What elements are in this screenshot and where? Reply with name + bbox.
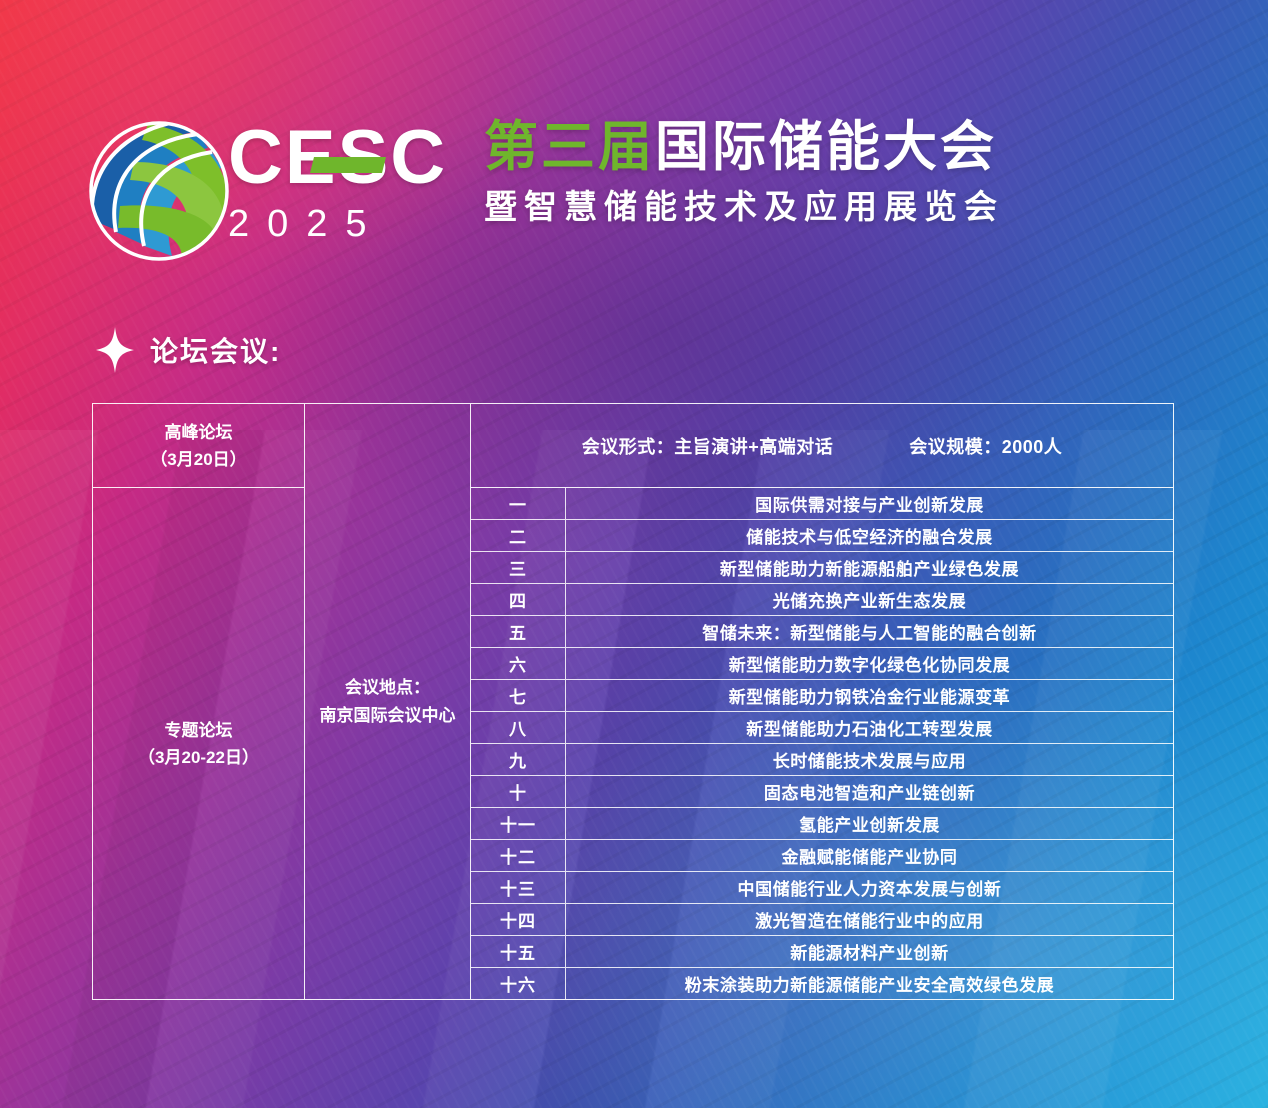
topic-title: 新能源材料产业创新 [566,936,1173,967]
meeting-meta-row: 会议形式：主旨演讲+高端对话 会议规模：2000人 [471,404,1173,488]
topic-forum-date: （3月20-22日） [138,744,259,771]
topic-number: 十六 [471,968,566,999]
table-row: 六新型储能助力数字化绿色化协同发展 [471,648,1173,680]
topic-title: 粉末涂装助力新能源储能产业安全高效绿色发展 [566,968,1173,999]
topic-number: 九 [471,744,566,775]
globe-logo-icon [86,118,232,264]
four-point-star-icon [96,327,134,373]
summit-forum-name: 高峰论坛 [165,419,233,446]
topic-number: 五 [471,616,566,647]
topic-number: 三 [471,552,566,583]
table-row: 十一氢能产业创新发展 [471,808,1173,840]
topic-title: 固态电池智造和产业链创新 [566,776,1173,807]
venue-label: 会议地点： [320,674,456,702]
table-row: 二储能技术与低空经济的融合发展 [471,520,1173,552]
topic-number: 十五 [471,936,566,967]
topic-number: 六 [471,648,566,679]
topic-title: 氢能产业创新发展 [566,808,1173,839]
topic-number: 十 [471,776,566,807]
event-subtitle: 暨智慧储能技术及应用展览会 [484,186,1204,228]
section-title: 论坛会议: [150,330,281,370]
poster-header: CESC 2025 第三届国际储能大会 暨智慧储能技术及应用展览会 [0,0,1268,300]
topic-number: 一 [471,488,566,519]
topic-title: 新型储能助力钢铁冶金行业能源变革 [566,680,1173,711]
brand-acronym: CESC [228,120,447,196]
topic-title: 金融赋能储能产业协同 [566,840,1173,871]
topic-number: 二 [471,520,566,551]
topic-title: 智储未来：新型储能与人工智能的融合创新 [566,616,1173,647]
e-crossbar-accent [310,157,386,173]
table-row: 四光储充换产业新生态发展 [471,584,1173,616]
topic-number: 八 [471,712,566,743]
table-row: 九长时储能技术发展与应用 [471,744,1173,776]
topic-title: 长时储能技术发展与应用 [566,744,1173,775]
event-titles: 第三届国际储能大会 暨智慧储能技术及应用展览会 [484,116,1204,228]
topic-number: 十四 [471,904,566,935]
topic-title: 储能技术与低空经济的融合发展 [566,520,1173,551]
table-row: 十六粉末涂装助力新能源储能产业安全高效绿色发展 [471,968,1173,999]
summit-forum-cell: 高峰论坛 （3月20日） [93,404,304,488]
table-row: 十五新能源材料产业创新 [471,936,1173,968]
topic-number: 十一 [471,808,566,839]
table-row: 五智储未来：新型储能与人工智能的融合创新 [471,616,1173,648]
table-row: 七新型储能助力钢铁冶金行业能源变革 [471,680,1173,712]
schedule-main-column: 会议形式：主旨演讲+高端对话 会议规模：2000人 一国际供需对接与产业创新发展… [471,404,1173,999]
topic-title: 激光智造在储能行业中的应用 [566,904,1173,935]
topic-title: 中国储能行业人力资本发展与创新 [566,872,1173,903]
topic-forum-cell: 专题论坛 （3月20-22日） [93,488,304,999]
topic-number: 十三 [471,872,566,903]
table-row: 八新型储能助力石油化工转型发展 [471,712,1173,744]
venue-column: 会议地点： 南京国际会议中心 [305,404,471,999]
table-row: 十固态电池智造和产业链创新 [471,776,1173,808]
table-row: 十二金融赋能储能产业协同 [471,840,1173,872]
forum-schedule-table: 高峰论坛 （3月20日） 专题论坛 （3月20-22日） 会议地点： 南京国际会… [92,403,1174,1000]
event-title-edition: 第三届 [484,117,655,177]
event-title-main: 国际储能大会 [655,117,997,177]
topic-number: 七 [471,680,566,711]
brand-lockup: CESC 2025 [228,120,447,244]
venue-cell: 会议地点： 南京国际会议中心 [320,674,456,730]
table-row: 十三中国储能行业人力资本发展与创新 [471,872,1173,904]
topic-number: 十二 [471,840,566,871]
topic-title: 新型储能助力石油化工转型发展 [566,712,1173,743]
event-title: 第三届国际储能大会 [484,116,1204,178]
section-heading: 论坛会议: [96,327,281,373]
venue-value: 南京国际会议中心 [320,702,456,730]
topic-forum-name: 专题论坛 [165,717,233,744]
summit-forum-date: （3月20日） [150,446,246,473]
topic-number: 四 [471,584,566,615]
meeting-scale: 会议规模：2000人 [909,433,1062,459]
meeting-format: 会议形式：主旨演讲+高端对话 [582,433,834,459]
topic-list: 一国际供需对接与产业创新发展二储能技术与低空经济的融合发展三新型储能助力新能源船… [471,488,1173,999]
topic-title: 国际供需对接与产业创新发展 [566,488,1173,519]
forum-type-column: 高峰论坛 （3月20日） 专题论坛 （3月20-22日） [93,404,305,999]
topic-title: 光储充换产业新生态发展 [566,584,1173,615]
table-row: 三新型储能助力新能源船舶产业绿色发展 [471,552,1173,584]
topic-title: 新型储能助力新能源船舶产业绿色发展 [566,552,1173,583]
table-row: 一国际供需对接与产业创新发展 [471,488,1173,520]
table-row: 十四激光智造在储能行业中的应用 [471,904,1173,936]
poster-canvas: CESC 2025 第三届国际储能大会 暨智慧储能技术及应用展览会 论坛会议: … [0,0,1268,1108]
topic-title: 新型储能助力数字化绿色化协同发展 [566,648,1173,679]
brand-year: 2025 [228,204,447,244]
